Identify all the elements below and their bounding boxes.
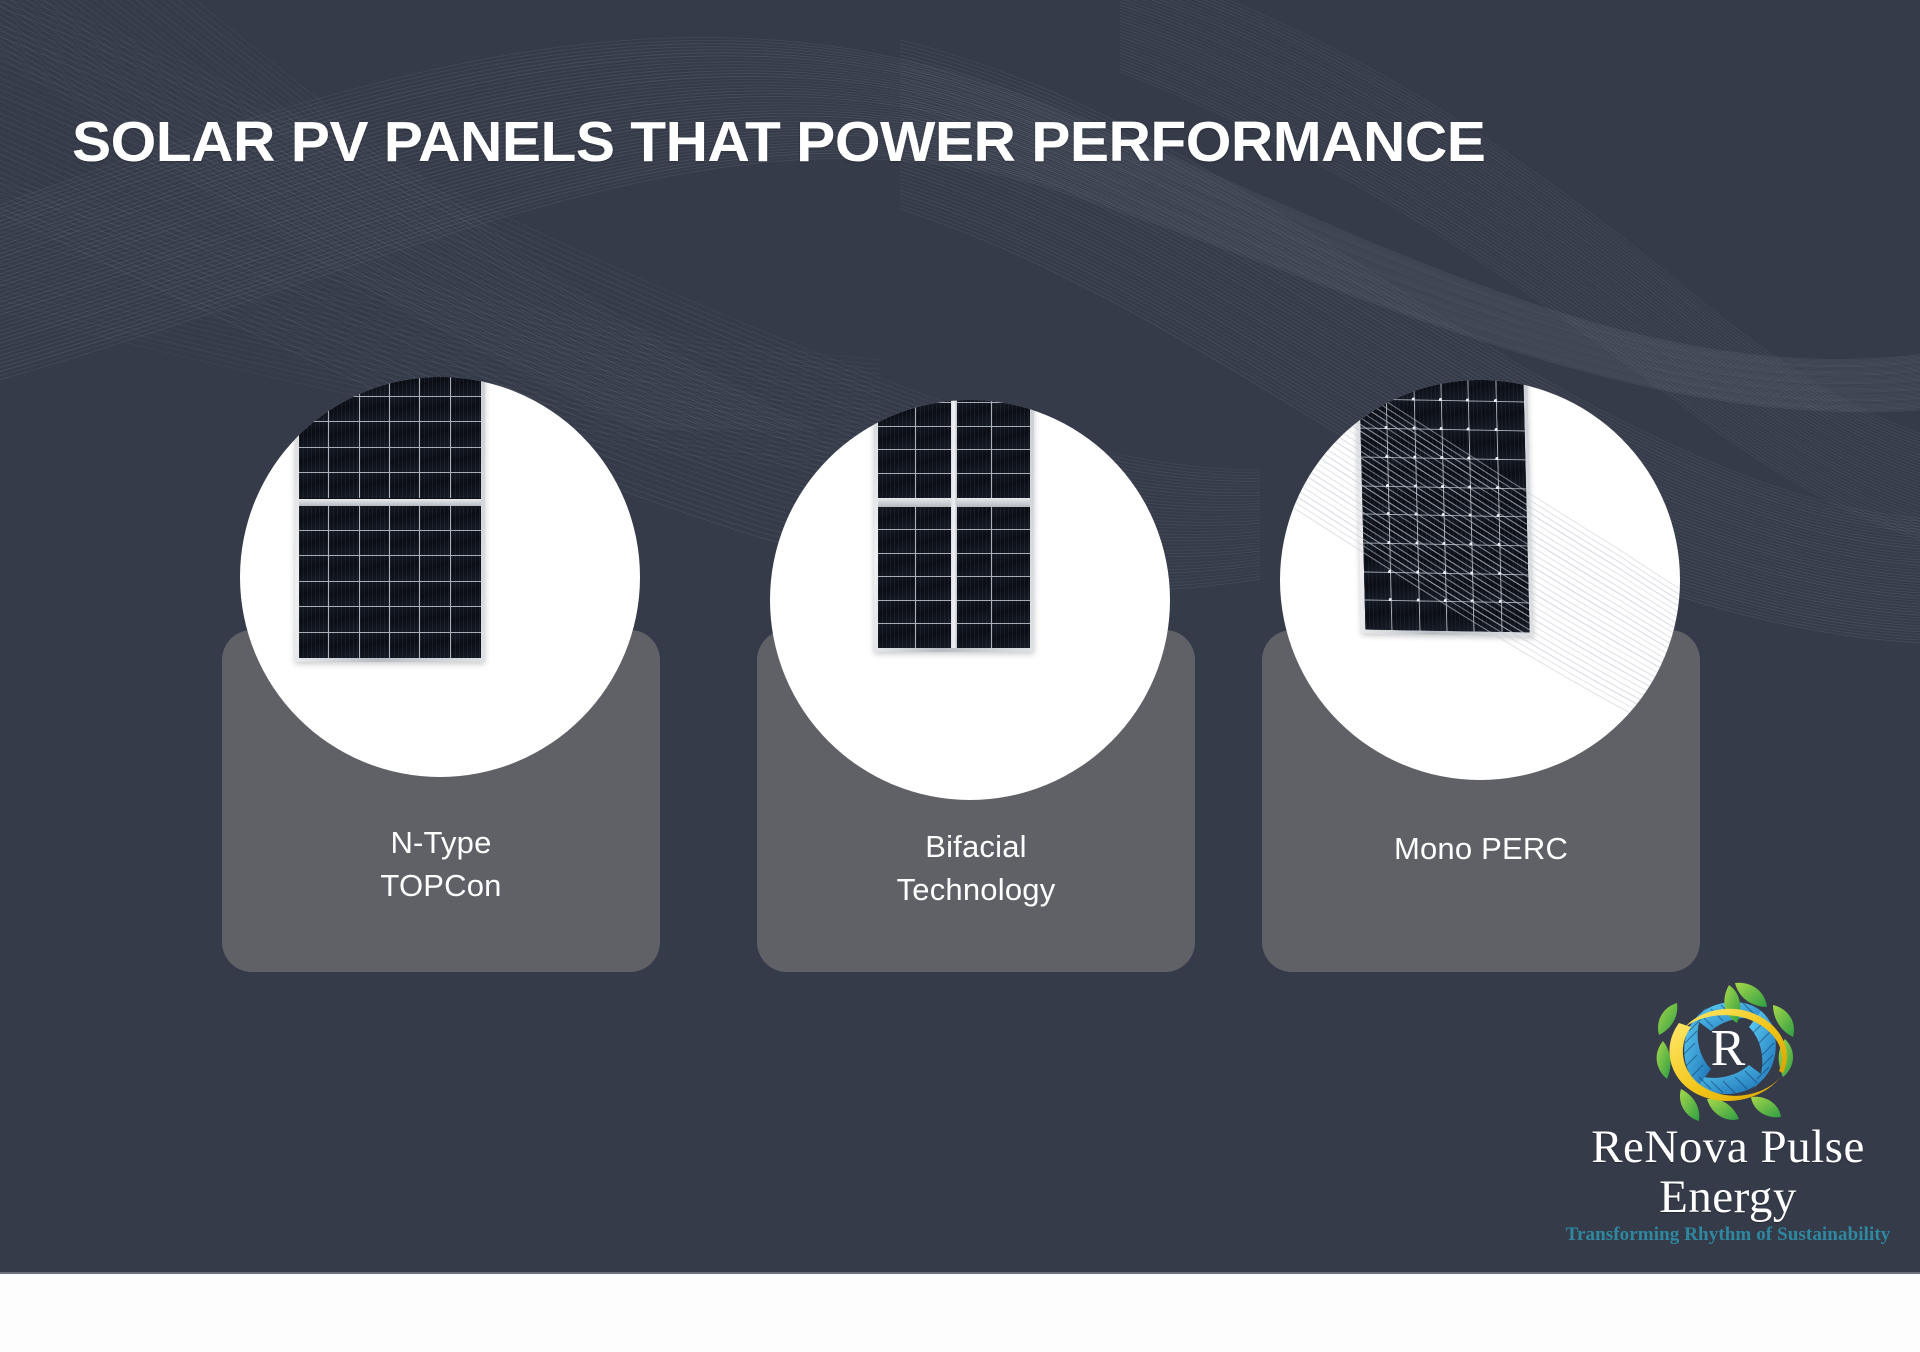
solar-cell	[878, 624, 916, 648]
solar-cell	[451, 506, 481, 531]
solar-cell	[299, 422, 329, 447]
solar-cell	[360, 506, 390, 531]
solar-cell	[992, 530, 1030, 554]
solar-panel-image-mono-perc	[1354, 380, 1533, 636]
solar-cell	[390, 556, 420, 581]
solar-cell	[1442, 401, 1470, 430]
solar-cell	[451, 531, 481, 556]
solar-cell	[1445, 545, 1473, 574]
page-title: SOLAR PV PANELS THAT POWER PERFORMANCE	[72, 114, 1485, 171]
solar-cell	[1446, 574, 1474, 603]
solar-cell	[1419, 602, 1447, 631]
solar-cell	[1417, 487, 1445, 516]
solar-cell	[1387, 400, 1415, 429]
solar-cell	[954, 450, 992, 474]
solar-cell	[420, 506, 450, 531]
solar-cell	[916, 577, 954, 601]
solar-cell	[954, 530, 992, 554]
card-label-mono-perc: Mono PERC	[1262, 828, 1700, 871]
company-logo: R ReNova Pulse Energy Transforming Rhyth…	[1548, 977, 1908, 1246]
solar-cell	[954, 474, 992, 498]
solar-cell	[420, 607, 450, 632]
solar-cell	[329, 607, 359, 632]
solar-cell	[299, 377, 329, 397]
solar-cell	[299, 473, 329, 498]
solar-cell	[299, 506, 329, 531]
solar-cell	[1469, 380, 1497, 402]
solar-panel-image-bifacial-technology	[874, 400, 1034, 652]
solar-cell	[329, 506, 359, 531]
solar-cell	[329, 531, 359, 556]
solar-cell	[360, 531, 390, 556]
solar-cell	[916, 601, 954, 625]
solar-cell	[916, 403, 954, 427]
solar-cell	[360, 607, 390, 632]
solar-cell	[1443, 430, 1471, 459]
solar-cell	[1445, 516, 1473, 545]
solar-cell	[878, 450, 916, 474]
solar-cell	[299, 397, 329, 422]
solar-cell	[390, 506, 420, 531]
solar-cell	[1499, 488, 1527, 517]
solar-cell	[1386, 380, 1414, 401]
solar-cell	[390, 448, 420, 473]
solar-cell	[420, 377, 450, 397]
image-circle-n-type-topcon	[240, 377, 640, 777]
solar-cell	[992, 554, 1030, 578]
solar-cell	[1443, 459, 1471, 488]
solar-cell	[1391, 573, 1419, 602]
solar-cell	[992, 601, 1030, 625]
solar-cell	[954, 403, 992, 427]
solar-cell	[1419, 573, 1447, 602]
solar-cell	[916, 530, 954, 554]
solar-cell	[916, 427, 954, 451]
solar-cell	[1497, 402, 1525, 431]
solar-cell	[390, 607, 420, 632]
solar-cell	[1417, 516, 1445, 545]
solar-cell	[992, 577, 1030, 601]
solar-cell	[360, 422, 390, 447]
solar-cell	[1363, 543, 1391, 572]
solar-cell	[992, 474, 1030, 498]
solar-cell	[992, 450, 1030, 474]
solar-cell	[1441, 380, 1469, 402]
solar-cell	[390, 633, 420, 658]
solar-cell	[451, 633, 481, 658]
solar-cell	[360, 377, 390, 397]
solar-cell	[451, 607, 481, 632]
solar-cell	[420, 448, 450, 473]
solar-cell	[878, 474, 916, 498]
solar-cell	[954, 577, 992, 601]
solar-cell	[916, 474, 954, 498]
solar-cell	[420, 531, 450, 556]
solar-cell	[451, 397, 481, 422]
solar-panel-image-n-type-topcon	[295, 377, 485, 662]
solar-cell	[1362, 486, 1390, 515]
solar-cell	[1363, 515, 1391, 544]
solar-cell	[451, 556, 481, 581]
solar-cell	[329, 448, 359, 473]
solar-cell	[451, 582, 481, 607]
solar-cell	[451, 473, 481, 498]
solar-cell	[1473, 574, 1501, 603]
solar-cell	[299, 607, 329, 632]
card-label-bifacial-technology: Bifacial Technology	[757, 826, 1195, 912]
renova-pulse-energy-logo-mark: R	[1633, 977, 1823, 1127]
solar-cell	[390, 377, 420, 397]
solar-cell	[878, 530, 916, 554]
solar-cell	[916, 450, 954, 474]
solar-cell	[329, 633, 359, 658]
solar-cell	[1361, 457, 1389, 486]
solar-cell	[916, 624, 954, 648]
solar-cell	[420, 397, 450, 422]
solar-cell	[1497, 431, 1525, 460]
solar-cell	[954, 427, 992, 451]
solar-cell	[390, 473, 420, 498]
solar-cell	[1360, 400, 1388, 429]
solar-cell	[1418, 544, 1446, 573]
solar-cell	[1444, 488, 1472, 517]
solar-cell	[360, 582, 390, 607]
solar-cell	[390, 397, 420, 422]
solar-cell	[1361, 429, 1389, 458]
logo-company-name: ReNova Pulse Energy	[1548, 1123, 1908, 1222]
solar-cell	[992, 403, 1030, 427]
solar-cell	[1392, 601, 1420, 630]
solar-cell	[299, 633, 329, 658]
solar-cell	[1474, 603, 1502, 632]
solar-cell	[329, 582, 359, 607]
solar-cell	[329, 377, 359, 397]
slide-canvas: SOLAR PV PANELS THAT POWER PERFORMANCE N…	[0, 0, 1920, 1352]
solar-cell	[360, 633, 390, 658]
solar-cell	[1389, 458, 1417, 487]
solar-cell	[954, 601, 992, 625]
solar-cell	[1498, 460, 1526, 489]
solar-cell	[1390, 515, 1418, 544]
solar-cell	[992, 507, 1030, 531]
solar-cell	[1364, 572, 1392, 601]
solar-cell	[1389, 487, 1417, 516]
solar-cell	[1472, 517, 1500, 546]
solar-cell	[992, 427, 1030, 451]
solar-cell	[329, 473, 359, 498]
solar-cell	[916, 507, 954, 531]
solar-cell	[878, 554, 916, 578]
solar-cell	[299, 531, 329, 556]
solar-cell	[360, 556, 390, 581]
image-circle-bifacial-technology	[770, 400, 1170, 800]
solar-cell	[360, 473, 390, 498]
solar-cell	[1416, 458, 1444, 487]
solar-cell	[954, 507, 992, 531]
solar-cell	[1499, 517, 1527, 546]
logo-letter: R	[1711, 1020, 1746, 1077]
solar-cell	[954, 554, 992, 578]
solar-cell	[420, 422, 450, 447]
solar-cell	[1447, 602, 1475, 631]
solar-cell	[916, 554, 954, 578]
solar-cell	[360, 448, 390, 473]
solar-cell	[1415, 401, 1443, 430]
solar-cell	[451, 377, 481, 397]
solar-cell	[299, 582, 329, 607]
solar-cell	[1388, 429, 1416, 458]
solar-cell	[1414, 380, 1442, 401]
solar-cell	[878, 507, 916, 531]
solar-cell	[451, 448, 481, 473]
solar-cell	[954, 624, 992, 648]
card-label-n-type-topcon: N-Type TOPCon	[222, 822, 660, 908]
solar-cell	[1500, 546, 1528, 575]
solar-cell	[390, 531, 420, 556]
solar-cell	[1391, 544, 1419, 573]
solar-cell	[420, 556, 450, 581]
logo-tagline: Transforming Rhythm of Sustainability	[1548, 1224, 1908, 1246]
solar-cell	[420, 582, 450, 607]
solar-cell	[329, 422, 359, 447]
solar-cell	[1469, 402, 1497, 431]
solar-cell	[878, 577, 916, 601]
solar-cell	[329, 556, 359, 581]
bottom-white-strip	[0, 1272, 1920, 1352]
solar-cell	[878, 403, 916, 427]
solar-cell	[1415, 430, 1443, 459]
solar-cell	[992, 624, 1030, 648]
solar-cell	[878, 601, 916, 625]
solar-cell	[420, 633, 450, 658]
solar-cell	[1471, 459, 1499, 488]
solar-cell	[1471, 488, 1499, 517]
solar-cell	[1473, 545, 1501, 574]
solar-cell	[1501, 575, 1529, 604]
solar-cell	[390, 582, 420, 607]
solar-cell	[329, 397, 359, 422]
solar-cell	[1496, 380, 1524, 403]
solar-cell	[451, 422, 481, 447]
solar-cell	[1359, 380, 1387, 400]
solar-cell	[878, 427, 916, 451]
solar-cell	[1470, 431, 1498, 460]
solar-cell	[299, 448, 329, 473]
solar-cell	[299, 556, 329, 581]
solar-cell	[420, 473, 450, 498]
solar-cell	[1502, 603, 1530, 632]
solar-cell	[360, 397, 390, 422]
image-circle-mono-perc	[1280, 380, 1680, 780]
solar-cell	[1365, 601, 1393, 630]
solar-cell	[390, 422, 420, 447]
